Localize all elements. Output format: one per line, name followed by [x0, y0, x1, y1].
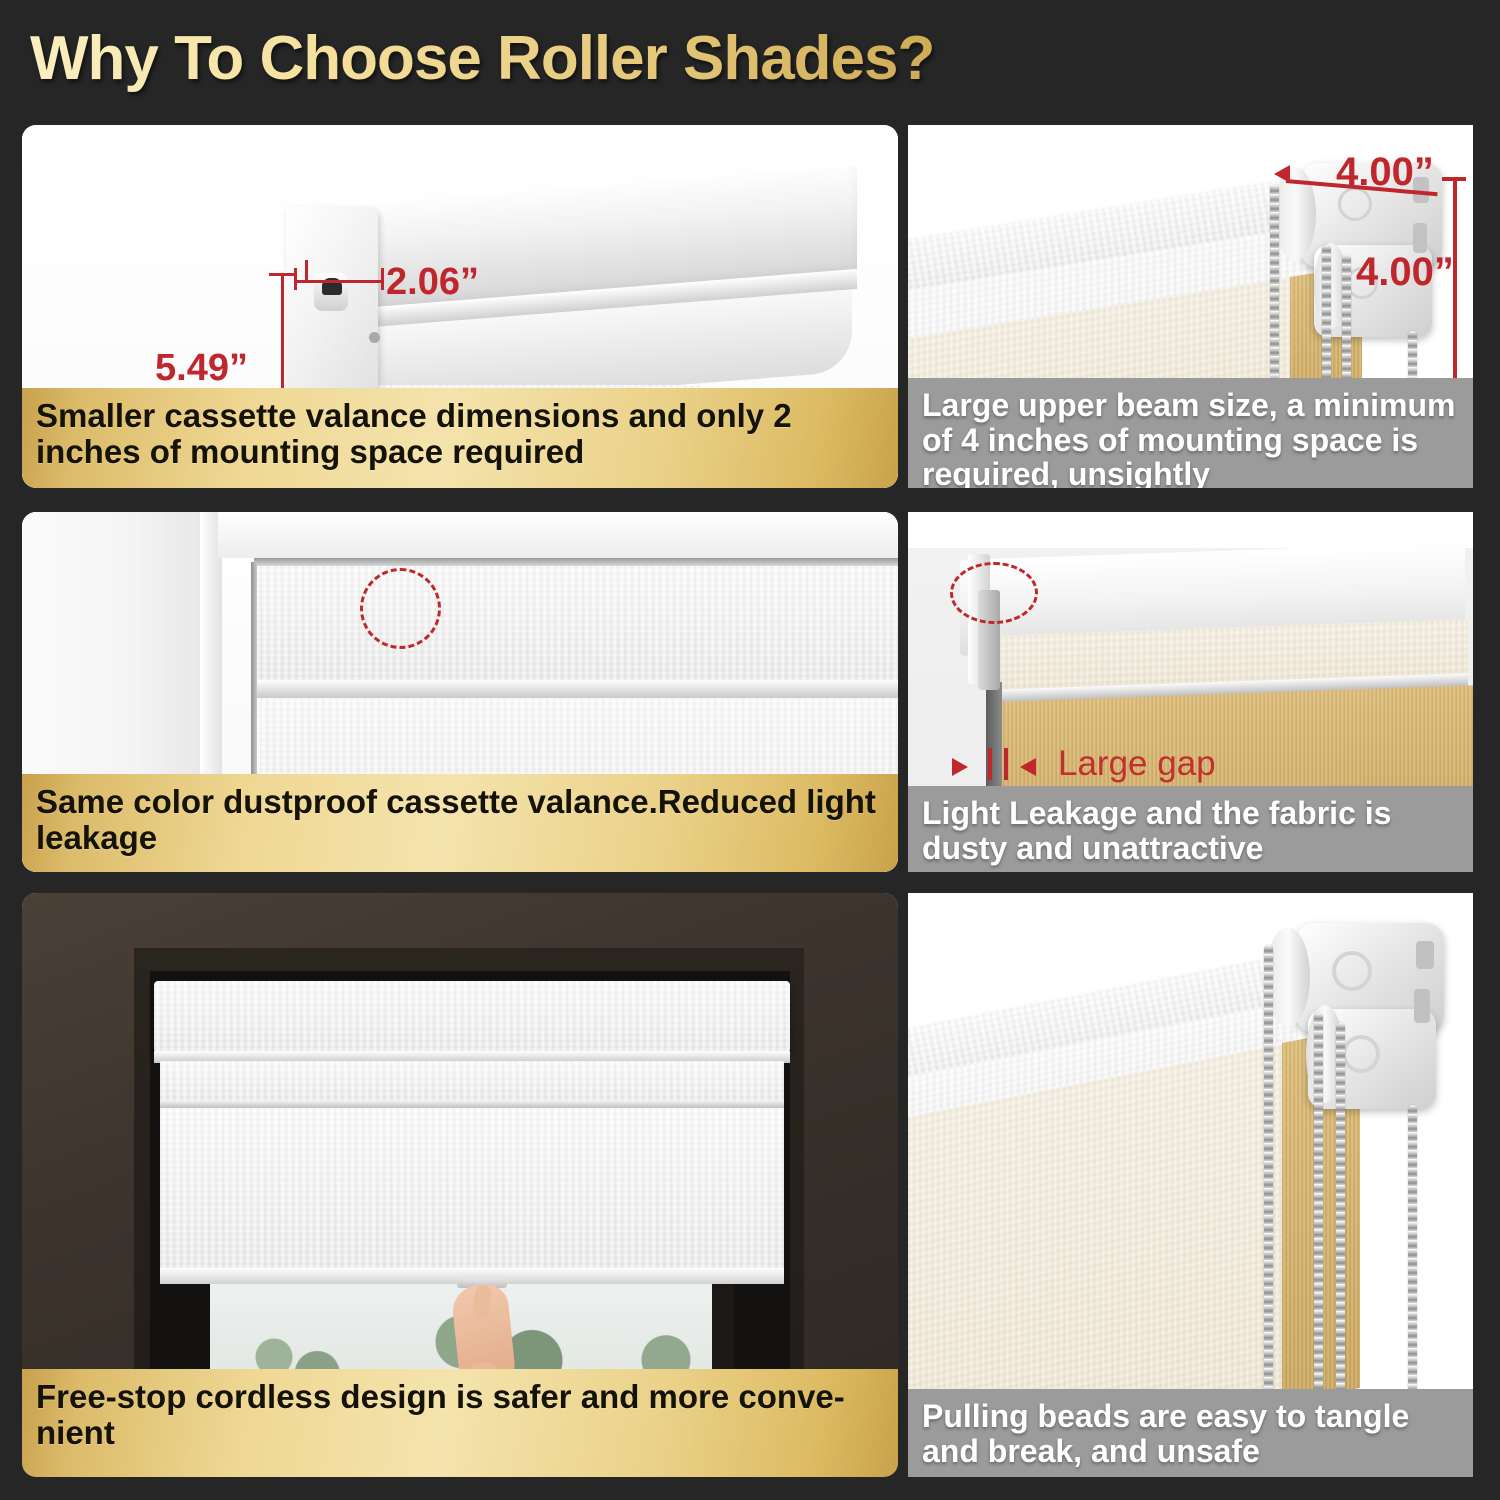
- panel-smaller-cassette: 5.49” 2.06” Smaller cassette valance dim…: [22, 125, 898, 488]
- infographic-root: Why To Choose Roller Shades? 5.49”: [0, 0, 1500, 1500]
- panel-pulling-beads: Pulling beads are easy to tangle and bre…: [908, 893, 1473, 1477]
- large-gap-tick-left: [988, 748, 992, 780]
- panel-large-upper-beam-caption: Large upper beam size, a minimum of 4 in…: [908, 378, 1473, 488]
- panel-smaller-cassette-caption: Smaller cassette valance dimensions and …: [22, 388, 898, 488]
- gap-highlight-circle: [360, 568, 441, 649]
- panel-large-gap-caption: Light Leakage and the fabric is dusty an…: [908, 786, 1473, 872]
- page-title: Why To Choose Roller Shades?: [30, 20, 1230, 98]
- beam-height-label: 4.00”: [1356, 250, 1454, 295]
- height-dimension-tick-top: [269, 273, 295, 276]
- height-dimension-label: 5.49”: [155, 347, 248, 390]
- beam-width-label: 4.00”: [1336, 150, 1434, 195]
- panel-large-upper-beam: 4.00” 4.00” Large upper beam size, a min…: [908, 125, 1473, 488]
- panel-large-gap: Large gap Light Leakage and the fabric i…: [908, 512, 1473, 872]
- panel-smaller-gap-caption: Same color dustproof cassette valance.Re…: [22, 774, 898, 872]
- beam-height-tick-top: [1442, 177, 1466, 181]
- large-gap-arrow-right: [1020, 758, 1036, 776]
- large-gap-label: Large gap: [1058, 744, 1216, 784]
- panel-pulling-beads-caption: Pulling beads are easy to tangle and bre…: [908, 1389, 1473, 1477]
- bead-chain-d: [1408, 1105, 1417, 1393]
- width-dimension-tick-right: [381, 268, 384, 290]
- large-gap-tick-right: [1004, 748, 1008, 780]
- width-dimension-tick-left: [294, 268, 297, 290]
- bead-chain-b: [1314, 1013, 1323, 1393]
- panel-cordless: Free-stop cordless design is safer and m…: [22, 893, 898, 1477]
- panel-cordless-caption: Free-stop cordless design is safer and m…: [22, 1369, 898, 1477]
- panel-smaller-gap: smaller gap Same color dustproof cassett…: [22, 512, 898, 872]
- width-dimension-leader: [305, 260, 308, 282]
- large-gap-arrow-left: [952, 758, 968, 776]
- beam-width-arrow-left: [1274, 165, 1290, 183]
- bead-chain-c: [1336, 1023, 1345, 1393]
- width-dimension-label: 2.06”: [386, 261, 479, 304]
- bead-chain-a: [1264, 945, 1273, 1393]
- large-gap-highlight-circle: [950, 562, 1038, 624]
